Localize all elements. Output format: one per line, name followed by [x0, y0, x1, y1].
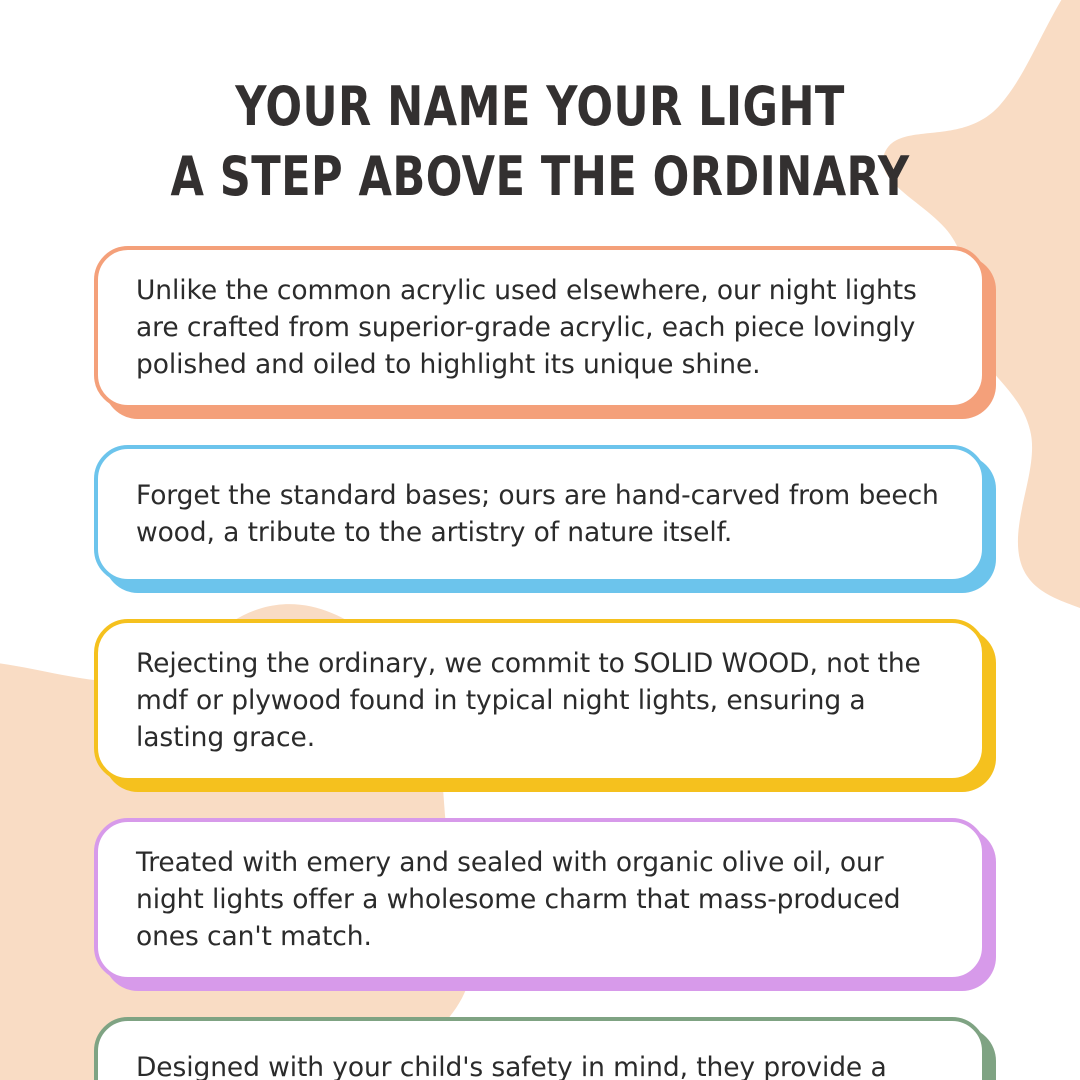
card-body-solid-wood: Rejecting the ordinary, we commit to SOL…	[94, 619, 986, 782]
card-text-child-safety: Designed with your child's safety in min…	[136, 1049, 948, 1080]
card-body-child-safety: Designed with your child's safety in min…	[94, 1017, 986, 1080]
poster-canvas: YOUR NAME YOUR LIGHT A STEP ABOVE THE OR…	[0, 0, 1080, 1080]
page-title-line-1: YOUR NAME YOUR LIGHT	[108, 72, 972, 142]
feature-card-beech-wood: Forget the standard bases; ours are hand…	[94, 445, 986, 583]
card-text-beech-wood: Forget the standard bases; ours are hand…	[136, 477, 948, 551]
feature-card-olive-oil: Treated with emery and sealed with organ…	[94, 818, 986, 981]
card-body-acrylic: Unlike the common acrylic used elsewhere…	[94, 246, 986, 409]
feature-card-child-safety: Designed with your child's safety in min…	[94, 1017, 986, 1080]
card-text-solid-wood: Rejecting the ordinary, we commit to SOL…	[136, 645, 948, 756]
card-text-acrylic: Unlike the common acrylic used elsewhere…	[136, 272, 948, 383]
feature-card-solid-wood: Rejecting the ordinary, we commit to SOL…	[94, 619, 986, 782]
page-title: YOUR NAME YOUR LIGHT A STEP ABOVE THE OR…	[0, 72, 1080, 212]
card-body-beech-wood: Forget the standard bases; ours are hand…	[94, 445, 986, 583]
card-body-olive-oil: Treated with emery and sealed with organ…	[94, 818, 986, 981]
page-title-line-2: A STEP ABOVE THE ORDINARY	[108, 142, 972, 212]
card-text-olive-oil: Treated with emery and sealed with organ…	[136, 844, 948, 955]
feature-card-acrylic: Unlike the common acrylic used elsewhere…	[94, 246, 986, 409]
feature-card-list: Unlike the common acrylic used elsewhere…	[0, 246, 1080, 1080]
